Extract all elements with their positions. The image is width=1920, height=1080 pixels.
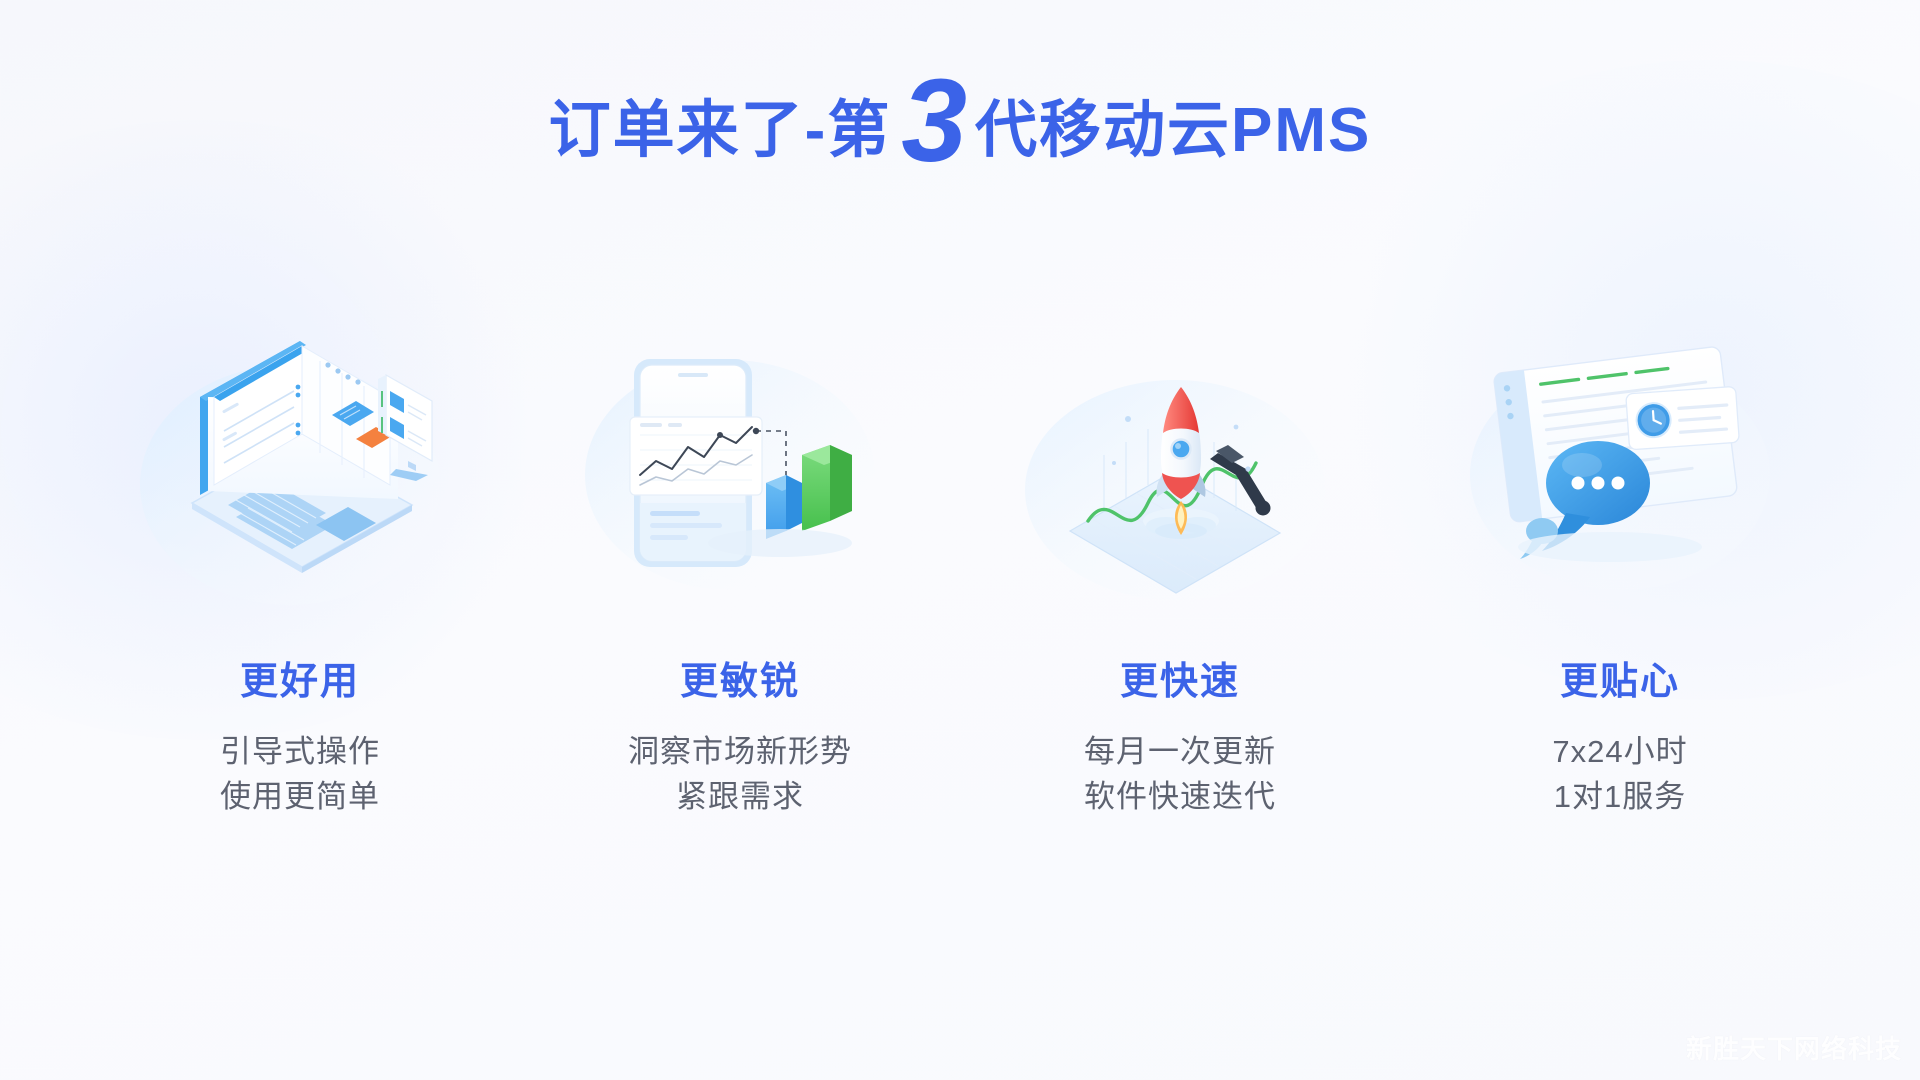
title-generation-number: 3	[891, 55, 975, 187]
feature-desc-line-4b: 1对1服务	[1552, 775, 1687, 820]
feature-desc-line-3b: 软件快速迭代	[1084, 775, 1276, 820]
feature-title-4: 更贴心	[1560, 662, 1680, 704]
feature-list: 更好用 引导式操作 使用更简单	[0, 330, 1920, 820]
feature-title-2: 更敏锐	[680, 662, 800, 704]
feature-desc-line-3a: 每月一次更新	[1084, 730, 1276, 775]
isometric-chat-support-icon	[1470, 330, 1770, 590]
isometric-smartphone-chart-icon	[590, 330, 890, 590]
isometric-laptop-dashboard-icon	[150, 330, 450, 590]
title-suffix: 代移动云PMS	[975, 96, 1371, 165]
watermark: 新胜天下网络科技	[1686, 1029, 1902, 1066]
feature-description-2: 洞察市场新形势 紧跟需求	[628, 730, 852, 820]
feature-title-3: 更快速	[1120, 662, 1240, 704]
feature-description-3: 每月一次更新 软件快速迭代	[1084, 730, 1276, 820]
banner-page: 订单来了-第3代移动云PMS	[0, 0, 1920, 1080]
feature-card-4[interactable]: 更贴心 7x24小时 1对1服务	[1400, 330, 1840, 820]
feature-desc-line-4a: 7x24小时	[1552, 730, 1687, 775]
feature-desc-line-1a: 引导式操作	[220, 730, 380, 775]
feature-description-4: 7x24小时 1对1服务	[1552, 730, 1687, 820]
feature-desc-line-1b: 使用更简单	[220, 775, 380, 820]
isometric-rocket-launch-icon	[1030, 330, 1330, 590]
page-title: 订单来了-第3代移动云PMS	[0, 52, 1920, 170]
feature-card-2[interactable]: 更敏锐 洞察市场新形势 紧跟需求	[520, 330, 960, 820]
feature-card-1[interactable]: 更好用 引导式操作 使用更简单	[80, 330, 520, 820]
feature-desc-line-2a: 洞察市场新形势	[628, 730, 852, 775]
feature-desc-line-2b: 紧跟需求	[628, 775, 852, 820]
feature-description-1: 引导式操作 使用更简单	[220, 730, 380, 820]
feature-card-3[interactable]: 更快速 每月一次更新 软件快速迭代	[960, 330, 1400, 820]
title-prefix: 订单来了-第	[549, 96, 892, 165]
feature-title-1: 更好用	[240, 662, 360, 704]
